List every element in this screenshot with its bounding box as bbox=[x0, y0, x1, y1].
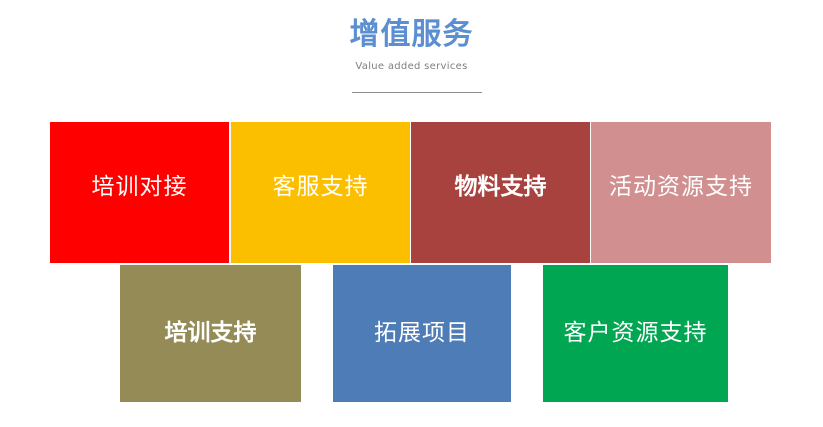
title-divider bbox=[352, 92, 482, 93]
page-title: 增值服务 bbox=[0, 18, 823, 52]
service-tile[interactable]: 客户资源支持 bbox=[543, 265, 728, 402]
service-tile[interactable]: 培训支持 bbox=[120, 265, 301, 402]
service-tile-label: 培训对接 bbox=[50, 173, 229, 201]
service-tile[interactable]: 物料支持 bbox=[411, 122, 590, 263]
service-tile-label: 物料支持 bbox=[411, 173, 590, 201]
page-header: 增值服务 Value added services bbox=[0, 0, 823, 110]
page-subtitle: Value added services bbox=[0, 60, 823, 74]
service-tile-label: 客户资源支持 bbox=[543, 319, 728, 347]
service-tile[interactable]: 拓展项目 bbox=[333, 265, 511, 402]
service-tile-label: 培训支持 bbox=[120, 319, 301, 347]
service-tile-label: 拓展项目 bbox=[333, 319, 511, 347]
service-tile-label: 客服支持 bbox=[231, 173, 410, 201]
service-tile[interactable]: 客服支持 bbox=[231, 122, 410, 263]
service-tile[interactable]: 活动资源支持 bbox=[591, 122, 771, 263]
service-tile-label: 活动资源支持 bbox=[591, 173, 771, 201]
service-tile[interactable]: 培训对接 bbox=[50, 122, 229, 263]
